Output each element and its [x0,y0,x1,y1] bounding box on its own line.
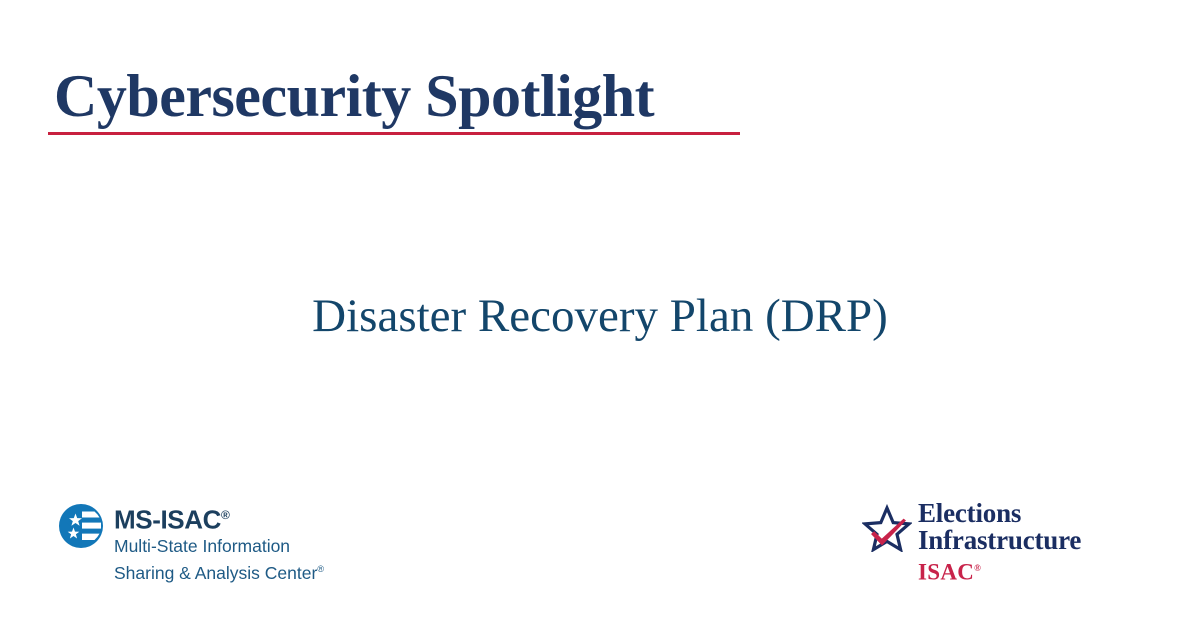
eiisac-line-1: Elections [918,500,1081,527]
eiisac-line-3: ISAC® [918,556,1081,585]
msisac-tagline-registered-mark: ® [317,564,324,574]
msisac-tagline-line-2: Sharing & Analysis Center® [114,559,324,584]
eiisac-line-2: Infrastructure [918,527,1081,554]
msisac-wordmark: MS-ISAC® [114,501,324,534]
eiisac-registered-mark: ® [974,563,981,573]
page-subtitle: Disaster Recovery Plan (DRP) [0,288,1200,344]
flag-globe-icon [58,503,104,549]
star-swoosh-icon [862,504,912,552]
title-block: Cybersecurity Spotlight [48,62,748,135]
page-title: Cybersecurity Spotlight [48,62,748,130]
msisac-tagline-line-1: Multi-State Information [114,536,324,557]
msisac-text-block: MS-ISAC® Multi-State Information Sharing… [114,500,324,583]
msisac-wordmark-text: MS-ISAC [114,505,221,535]
msisac-tagline-line-2-text: Sharing & Analysis Center [114,562,317,582]
msisac-registered-mark: ® [221,508,230,522]
msisac-logo: MS-ISAC® Multi-State Information Sharing… [58,500,324,583]
subtitle-block: Disaster Recovery Plan (DRP) [0,288,1200,344]
eiisac-logo: Elections Infrastructure ISAC® [862,500,1081,585]
slide-canvas: Cybersecurity Spotlight Disaster Recover… [0,0,1200,627]
title-underline-rule [48,132,740,135]
eiisac-isac-text: ISAC [918,560,974,585]
eiisac-text-block: Elections Infrastructure ISAC® [918,500,1081,585]
